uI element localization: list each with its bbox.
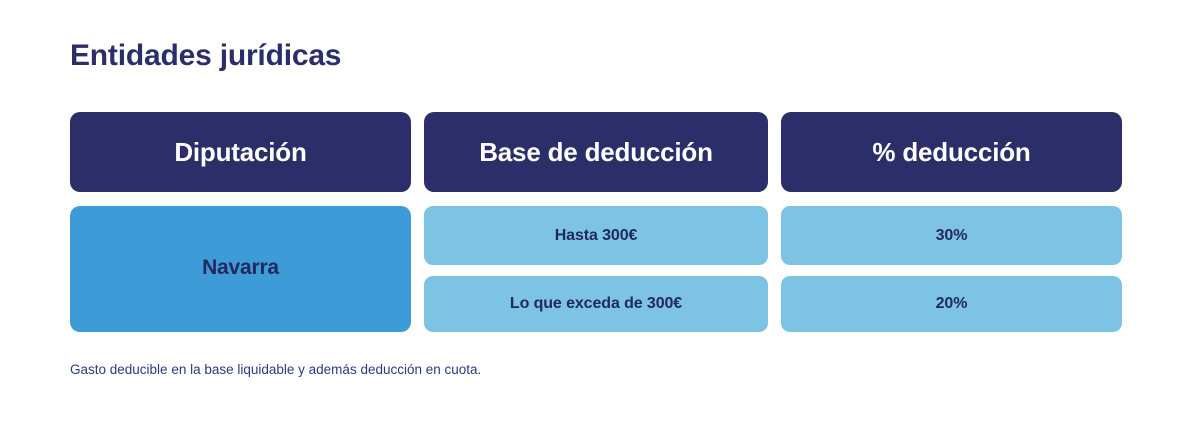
- cell-porcentaje-row-1: 30%: [781, 206, 1122, 265]
- column-header-base-de-deduccion: Base de deducción: [424, 112, 768, 192]
- cell-diputacion-navarra: Navarra: [70, 206, 411, 332]
- column-header-diputacion: Diputación: [70, 112, 411, 192]
- column-header-porcentaje-deduccion: % deducción: [781, 112, 1122, 192]
- deductions-table: Diputación Base de deducción % deducción…: [70, 112, 1122, 332]
- cell-base-row-1: Hasta 300€: [424, 206, 768, 265]
- page-title: Entidades jurídicas: [70, 38, 341, 74]
- cell-porcentaje-row-2: 20%: [781, 276, 1122, 332]
- column-diputacion: Navarra: [70, 206, 411, 332]
- column-porcentaje-deduccion: 30% 20%: [781, 206, 1122, 332]
- column-base-de-deduccion: Hasta 300€ Lo que exceda de 300€: [424, 206, 768, 332]
- infographic-table-page: Entidades jurídicas Diputación Base de d…: [0, 0, 1200, 433]
- table-header-row: Diputación Base de deducción % deducción: [70, 112, 1122, 192]
- table-body: Navarra Hasta 300€ Lo que exceda de 300€…: [70, 206, 1122, 332]
- table-footnote: Gasto deducible en la base liquidable y …: [70, 362, 481, 377]
- cell-base-row-2: Lo que exceda de 300€: [424, 276, 768, 332]
